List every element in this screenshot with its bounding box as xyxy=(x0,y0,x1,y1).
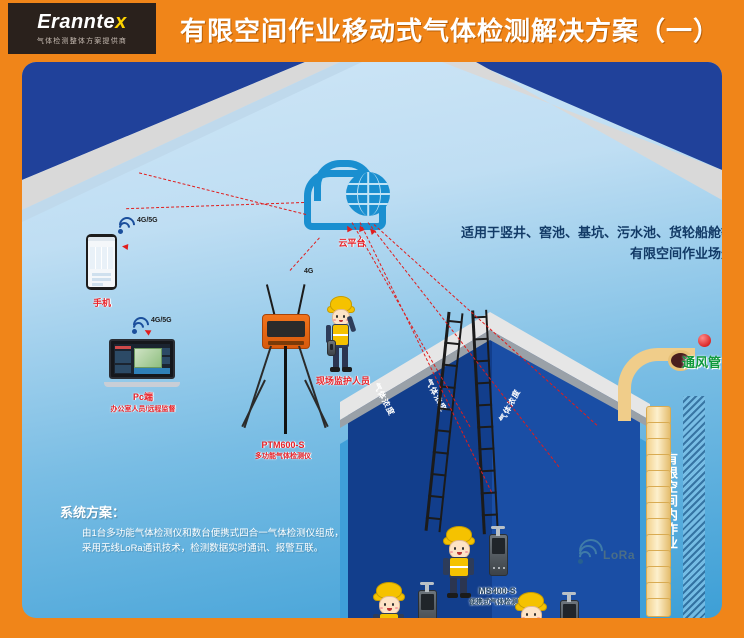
header-bar: Eranntex 气体检测整体方案提供商 有限空间作业移动式气体检测解决方案（一… xyxy=(0,0,744,57)
ms400s-detector-1 xyxy=(489,534,508,576)
system-plan-body: 由1台多功能气体检测仪和数台便携式四合一气体检测仪组成， 采用无线LoRa通讯技… xyxy=(82,526,360,556)
phone-signal-label: 4G/5G xyxy=(137,217,158,224)
system-plan-line-1: 由1台多功能气体检测仪和数台便携式四合一气体检测仪组成， xyxy=(82,526,360,541)
tripod-signal-label: 4G xyxy=(304,268,313,275)
mobile-phone-device xyxy=(86,234,117,290)
pc-label: Pc端 办公室人员/远程监督 xyxy=(78,390,208,414)
applicable-scenarios-text: 适用于竖井、窖池、基坑、污水池、货轮船舱等 有限空间作业场景 xyxy=(404,222,722,264)
applicable-line-1: 适用于竖井、窖池、基坑、污水池、货轮船舱等 xyxy=(404,222,722,243)
link-tripod-cloud xyxy=(290,237,320,270)
cloud-platform-icon xyxy=(304,160,408,236)
pc-workstation-device xyxy=(104,339,180,387)
ms400s-detector-3 xyxy=(560,600,579,618)
alarm-beacon-icon xyxy=(698,334,711,347)
arrow-to-phone xyxy=(122,243,129,250)
scene-panel: 气体浓度 气体浓度 气体浓度 有限空间内作业 xyxy=(22,62,722,618)
worker-figure-2 xyxy=(367,580,415,618)
brand-wordmark: Eranntex xyxy=(37,12,127,32)
applicable-line-2: 有限空间作业场景 xyxy=(404,243,722,264)
phone-label: 手机 xyxy=(74,296,130,309)
lora-label: LoRa xyxy=(603,548,635,562)
pc-signal-label: 4G/5G xyxy=(151,317,172,324)
lora-signal-icon xyxy=(578,546,602,564)
onsite-supervisor-figure xyxy=(319,294,365,378)
ms400s-detector-2 xyxy=(418,590,437,618)
system-plan-line-2: 采用无线LoRa通讯技术，检测数据实时通讯、报警互联。 xyxy=(82,541,360,556)
ventilation-pipe-label: 通风管 xyxy=(682,352,721,371)
poster-root: Eranntex 气体检测整体方案提供商 有限空间作业移动式气体检测解决方案（一… xyxy=(0,0,744,638)
arrow-to-pc xyxy=(143,328,151,336)
page-title: 有限空间作业移动式气体检测解决方案（一） xyxy=(165,8,735,50)
phone-signal-icon xyxy=(118,220,136,234)
link-cloud-pc xyxy=(139,172,306,215)
ventilation-pipe xyxy=(618,348,682,616)
brand-wordmark-main: Erannte xyxy=(37,11,115,33)
system-plan-title: 系统方案： xyxy=(60,502,360,521)
worker-figure-3 xyxy=(509,590,557,618)
brand-wordmark-accent: x xyxy=(115,11,127,33)
globe-icon xyxy=(346,172,390,216)
ptm600s-gas-detector-device xyxy=(244,284,324,434)
wall-hatch-texture xyxy=(683,396,705,618)
link-cloud-phone xyxy=(126,202,304,209)
onsite-supervisor-label: 现场监护人员 xyxy=(305,374,381,387)
ptm600s-label: PTM600-S 多功能气体检测仪 xyxy=(227,440,339,461)
brand-tagline: 气体检测整体方案提供商 xyxy=(37,36,127,46)
brand-logo: Eranntex 气体检测整体方案提供商 xyxy=(8,3,156,54)
system-plan-block: 系统方案： 由1台多功能气体检测仪和数台便携式四合一气体检测仪组成， 采用无线L… xyxy=(60,502,360,556)
